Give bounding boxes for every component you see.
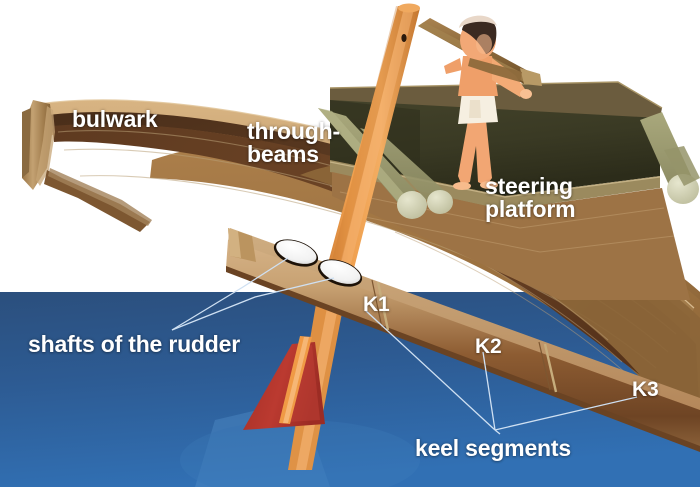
label-through-beams: through-beams [247,120,340,167]
ship-cutaway-illustration [0,0,700,487]
label-through-beams-line2: beams [247,141,319,167]
label-steering-platform-line2: platform [485,196,575,222]
label-steering-platform: steeringplatform [485,175,575,222]
label-shafts-of-the-rudder: shafts of the rudder [28,333,240,356]
label-keel-k2: K2 [475,336,501,357]
label-keel-k3: K3 [632,379,658,400]
label-bulwark: bulwark [72,108,158,131]
label-keel-segments: keel segments [415,437,571,460]
label-keel-k1: K1 [363,294,389,315]
figure-canvas: bulwark through-beams steeringplatform s… [0,0,700,487]
